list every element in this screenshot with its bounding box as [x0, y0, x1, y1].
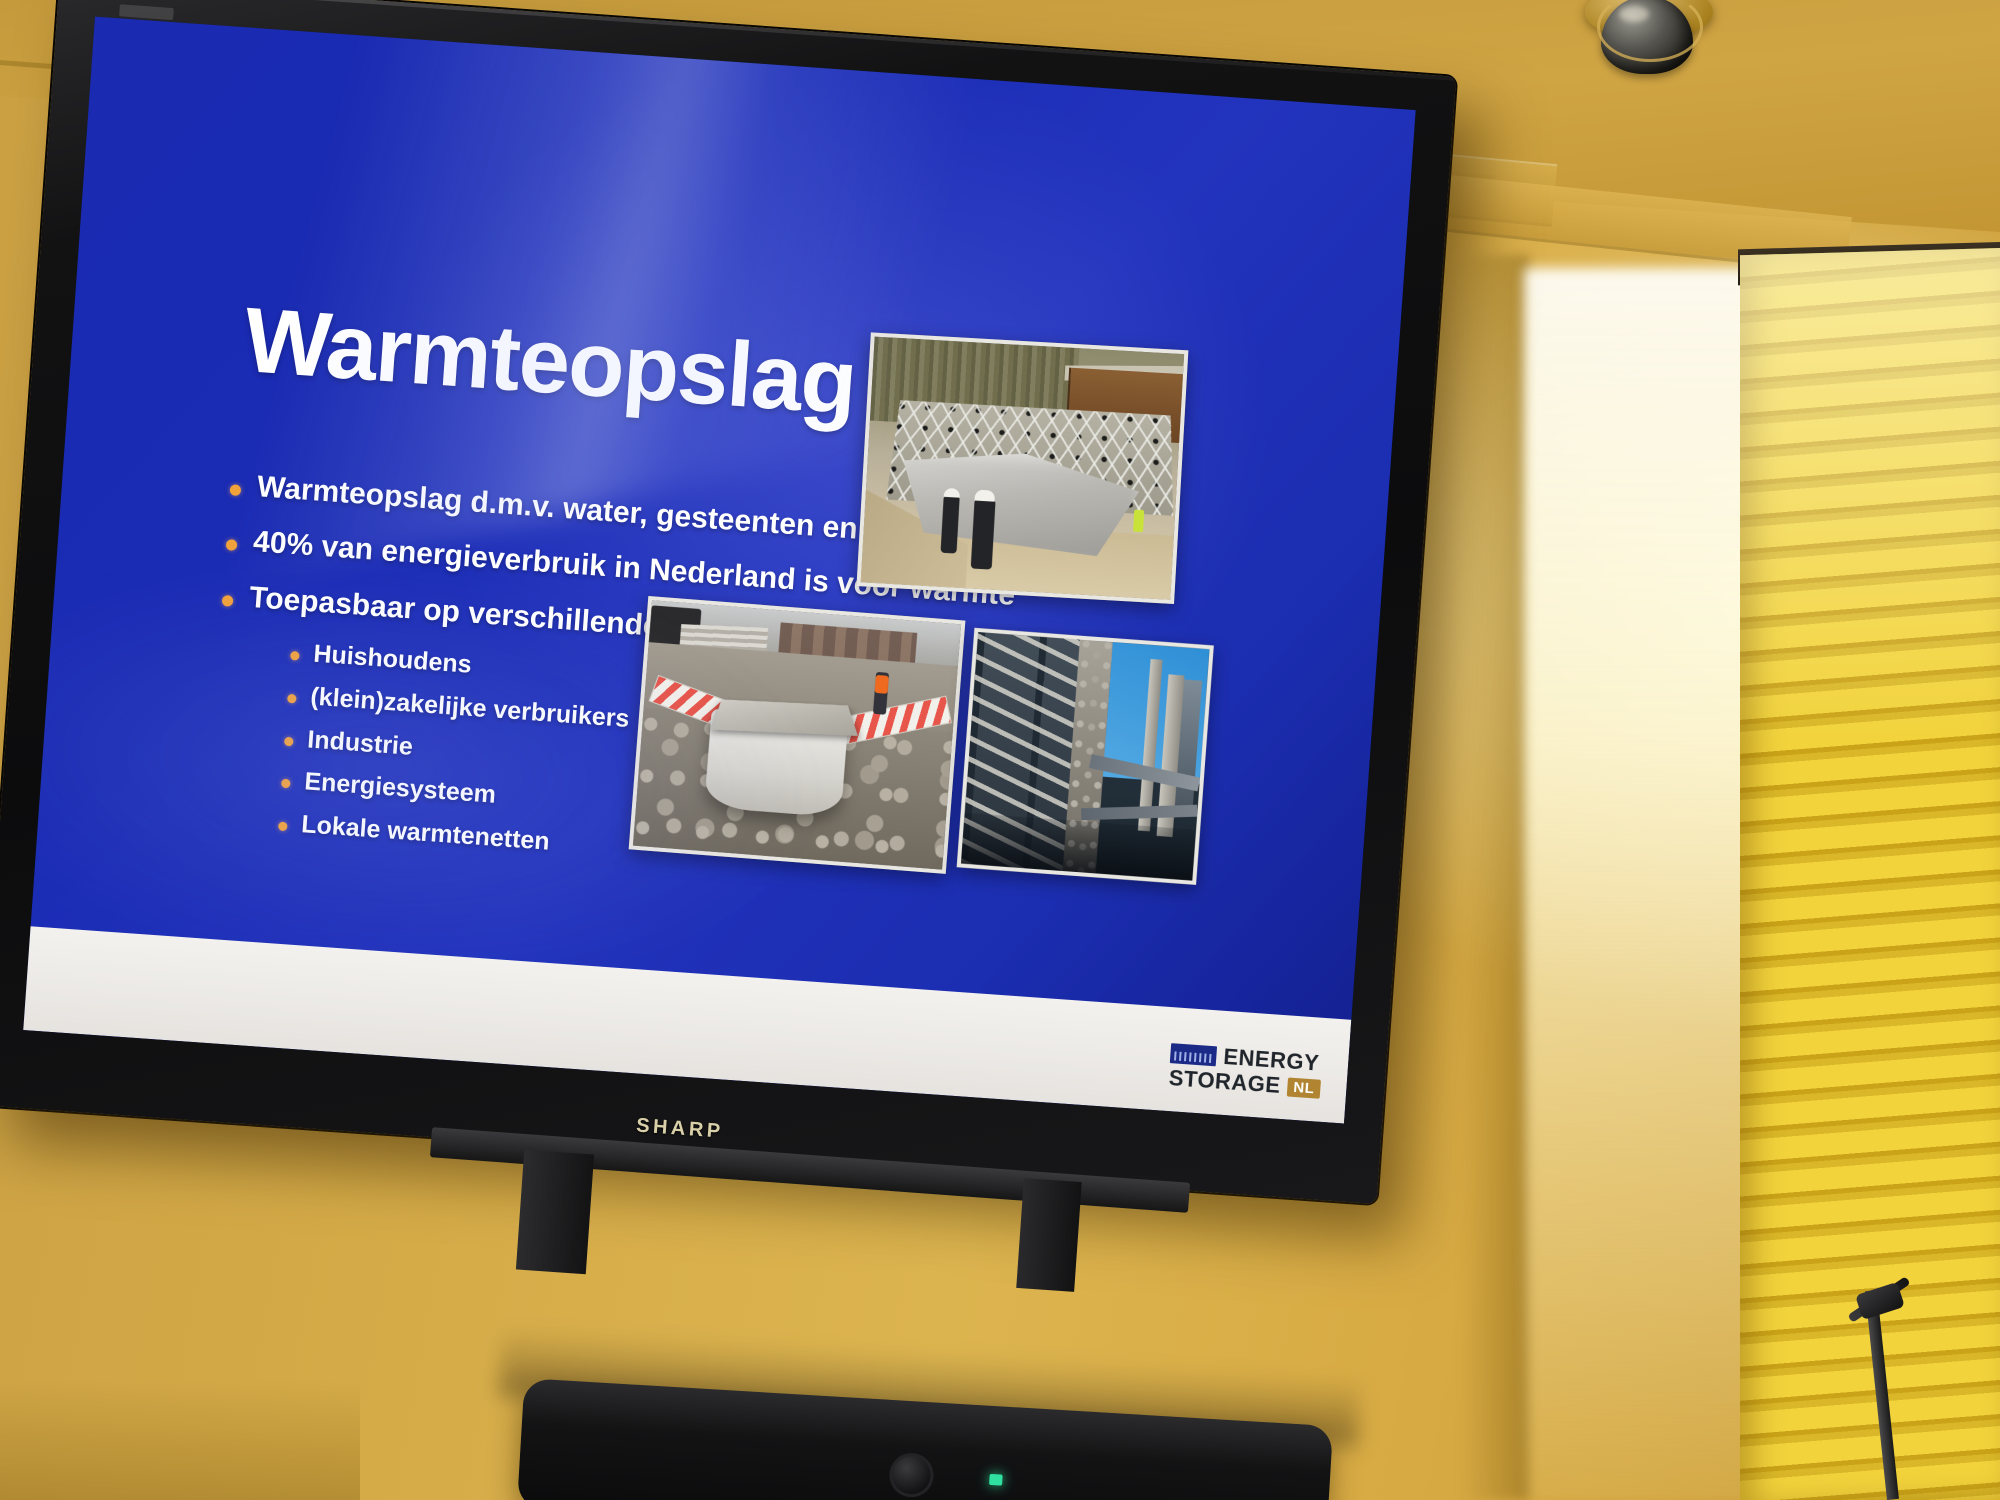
floor-shadow	[0, 1380, 360, 1500]
presentation-slide: Warmteopslag Warmteopslag d.m.v. water, …	[23, 17, 1415, 1124]
bullet-dot-icon	[226, 540, 238, 552]
slide-photo-pit-storage	[856, 332, 1188, 604]
bullet-dot-icon	[222, 595, 234, 607]
sub-bullet-text: Energiesysteem	[303, 768, 496, 810]
sharp-display[interactable]: Warmteopslag Warmteopslag d.m.v. water, …	[0, 0, 1456, 1204]
logo-mark-icon	[1170, 1043, 1217, 1066]
sub-bullet-text: Huishoudens	[313, 640, 473, 680]
logo-line-2: STORAGE	[1168, 1067, 1281, 1097]
bullet-dot-icon	[284, 736, 294, 746]
bullet-dot-icon	[290, 651, 300, 661]
bullet-dot-icon	[287, 694, 297, 704]
bullet-dot-icon	[230, 484, 242, 496]
dome-camera-icon	[1585, 0, 1713, 88]
wall-light-wash	[1524, 268, 1754, 1500]
wall-corner-shadow	[1460, 255, 1530, 1500]
display-mount-column	[516, 1150, 594, 1275]
display-screen[interactable]: Warmteopslag Warmteopslag d.m.v. water, …	[23, 17, 1415, 1124]
energy-storage-nl-logo: ENERGY STORAGE NL	[1168, 1042, 1323, 1100]
slide-photo-industrial-plant	[957, 628, 1214, 885]
sub-bullet-text: Industrie	[306, 725, 413, 761]
sub-bullet-text: Lokale warmtenetten	[300, 810, 550, 856]
slide-photo-buried-tank	[629, 596, 966, 874]
room-photo-scene: Warmteopslag Warmteopslag d.m.v. water, …	[0, 0, 2000, 1500]
logo-badge-nl: NL	[1287, 1077, 1321, 1098]
bullet-dot-icon	[281, 779, 291, 789]
bullet-dot-icon	[278, 822, 288, 832]
status-led	[989, 1474, 1003, 1486]
sub-bullet-text: (klein)zakelijke verbruikers	[309, 682, 630, 733]
camera-lens-icon	[888, 1452, 935, 1499]
page-title: Warmteopslag	[241, 288, 859, 436]
display-mount-column	[1016, 1178, 1082, 1292]
